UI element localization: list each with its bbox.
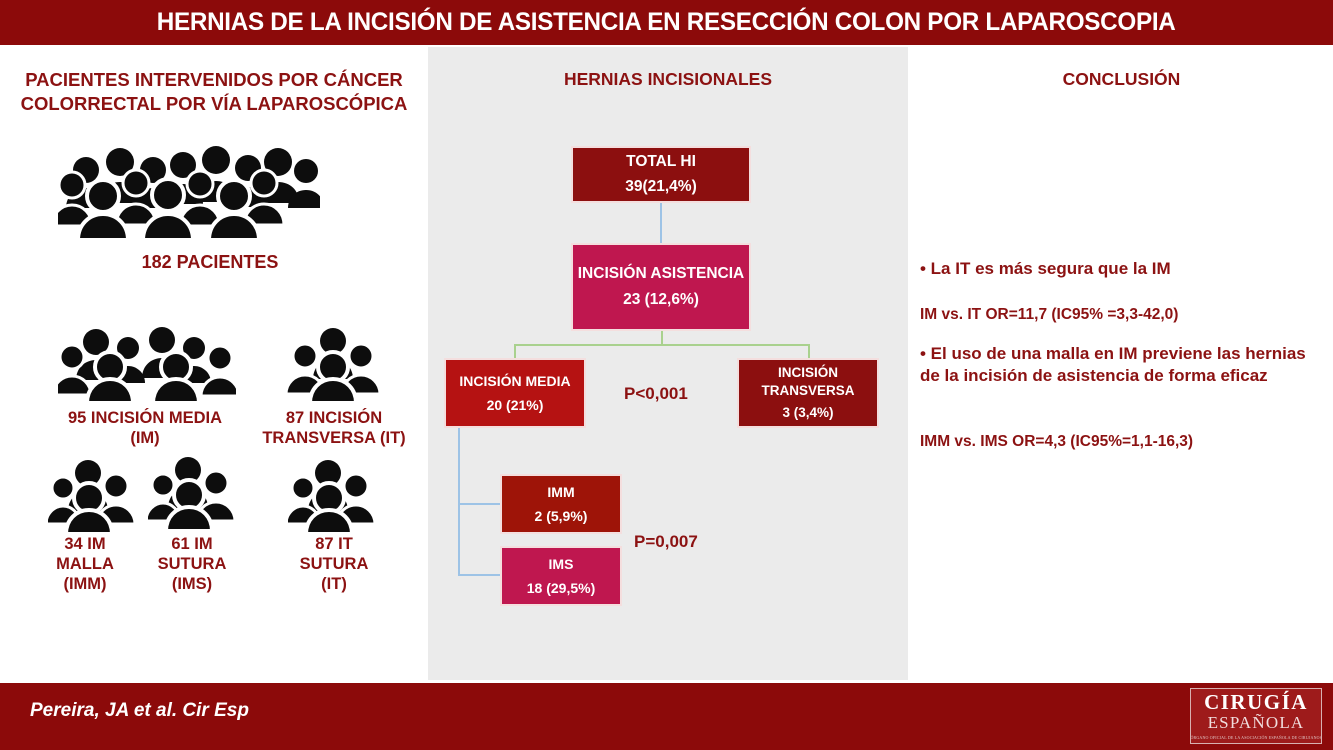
flow-box-imm-title: IMM bbox=[547, 483, 574, 501]
flow-box-imm[interactable]: IMM 2 (5,9%) bbox=[500, 474, 622, 534]
crowd-icon-total-patients bbox=[58, 140, 320, 240]
group-label-line3: (IMS) bbox=[122, 574, 262, 594]
group-label-line2: SUTURA bbox=[122, 554, 262, 574]
flow-box-ims-value: 18 (29,5%) bbox=[527, 579, 595, 597]
header-band: HERNIAS DE LA INCISIÓN DE ASISTENCIA EN … bbox=[0, 0, 1333, 45]
slide-root: HERNIAS DE LA INCISIÓN DE ASISTENCIA EN … bbox=[0, 0, 1333, 750]
flow-box-incision-media[interactable]: INCISIÓN MEDIA 20 (21%) bbox=[444, 358, 586, 428]
conclusion-bullet-2: • El uso de una malla en IM previene las… bbox=[920, 343, 1320, 387]
connector-media-to-imm bbox=[458, 503, 502, 505]
left-heading-line2: COLORRECTAL POR VÍA LAPAROSCÓPICA bbox=[8, 92, 420, 116]
connector-media-to-ims bbox=[458, 574, 502, 576]
flow-box-ims-title: IMS bbox=[549, 555, 574, 573]
center-column-heading: HERNIAS INCISIONALES bbox=[428, 68, 908, 91]
group-label-line2: (IM) bbox=[20, 428, 270, 448]
flow-box-incision-asistencia-value: 23 (12,6%) bbox=[623, 290, 699, 310]
conclusion-stat-2: IMM vs. IMS OR=4,3 (IC95%=1,1-16,3) bbox=[920, 432, 1320, 452]
connector-total-to-asistencia bbox=[660, 201, 662, 244]
group-label-incision-media: 95 INCISIÓN MEDIA (IM) bbox=[20, 408, 270, 448]
footer-citation: Pereira, JA et al. Cir Esp bbox=[30, 700, 249, 722]
pvalue-media-vs-transversa: P<0,001 bbox=[624, 384, 688, 404]
total-patients-label: 182 PACIENTES bbox=[60, 252, 360, 274]
flow-box-incision-transversa[interactable]: INCISIÓN TRANSVERSA 3 (3,4%) bbox=[737, 358, 879, 428]
flow-box-incision-media-title: INCISIÓN MEDIA bbox=[459, 372, 570, 390]
left-column-heading: PACIENTES INTERVENIDOS POR CÁNCER COLORR… bbox=[8, 68, 420, 117]
connector-to-incision-media bbox=[514, 344, 516, 359]
group-label-line1: 61 IM bbox=[122, 534, 262, 554]
crowd-icon-incision-transversa bbox=[285, 325, 381, 403]
conclusion-bullet-1: • La IT es más segura que la IM bbox=[920, 258, 1320, 280]
group-label-line2: TRANSVERSA (IT) bbox=[248, 428, 420, 448]
pvalue-imm-vs-ims: P=0,007 bbox=[634, 532, 698, 552]
flow-box-total-hi[interactable]: TOTAL HI 39(21,4%) bbox=[571, 146, 751, 203]
group-label-line2: SUTURA bbox=[264, 554, 404, 574]
flow-box-total-hi-title: TOTAL HI bbox=[626, 152, 696, 172]
right-column-heading: CONCLUSIÓN bbox=[910, 68, 1333, 91]
group-label-it-sutura: 87 IT SUTURA (IT) bbox=[264, 534, 404, 594]
crowd-icon-ims bbox=[148, 455, 240, 531]
left-heading-line1: PACIENTES INTERVENIDOS POR CÁNCER bbox=[8, 68, 420, 92]
journal-logo-line1: CIRUGÍA bbox=[1204, 692, 1308, 713]
flow-box-incision-transversa-value: 3 (3,4%) bbox=[782, 404, 833, 422]
connector-media-vertical bbox=[458, 428, 460, 576]
conclusion-stat-1: IM vs. IT OR=11,7 (IC95% =3,3-42,0) bbox=[920, 305, 1320, 325]
connector-asistencia-horizontal bbox=[514, 344, 810, 346]
journal-logo-tagline: ÓRGANO OFICIAL DE LA ASOCIACIÓN ESPAÑOLA… bbox=[1190, 735, 1322, 740]
flow-box-total-hi-value: 39(21,4%) bbox=[625, 177, 697, 197]
crowd-icon-imm bbox=[48, 458, 140, 534]
crowd-icon-it-sutura bbox=[288, 458, 380, 534]
group-label-ims: 61 IM SUTURA (IMS) bbox=[122, 534, 262, 594]
flow-box-incision-media-value: 20 (21%) bbox=[487, 396, 544, 414]
journal-logo[interactable]: CIRUGÍA ESPAÑOLA ÓRGANO OFICIAL DE LA AS… bbox=[1190, 688, 1322, 744]
group-label-incision-transversa: 87 INCISIÓN TRANSVERSA (IT) bbox=[248, 408, 420, 448]
group-label-line1: 95 INCISIÓN MEDIA bbox=[20, 408, 270, 428]
connector-to-incision-transversa bbox=[808, 344, 810, 359]
flow-box-incision-asistencia-title: INCISIÓN ASISTENCIA bbox=[578, 264, 745, 284]
flow-box-incision-transversa-title-line2: TRANSVERSA bbox=[761, 382, 854, 400]
flow-box-incision-transversa-title-line1: INCISIÓN bbox=[778, 364, 838, 382]
group-label-line3: (IT) bbox=[264, 574, 404, 594]
flow-box-ims[interactable]: IMS 18 (29,5%) bbox=[500, 546, 622, 606]
page-title: HERNIAS DE LA INCISIÓN DE ASISTENCIA EN … bbox=[157, 8, 1176, 37]
connector-asistencia-stem bbox=[661, 330, 663, 344]
crowd-icon-incision-media bbox=[58, 325, 236, 403]
flow-box-imm-value: 2 (5,9%) bbox=[535, 507, 588, 525]
group-label-line1: 87 INCISIÓN bbox=[248, 408, 420, 428]
flow-box-incision-asistencia[interactable]: INCISIÓN ASISTENCIA 23 (12,6%) bbox=[571, 243, 751, 331]
group-label-line1: 87 IT bbox=[264, 534, 404, 554]
journal-logo-line2: ESPAÑOLA bbox=[1208, 713, 1305, 733]
